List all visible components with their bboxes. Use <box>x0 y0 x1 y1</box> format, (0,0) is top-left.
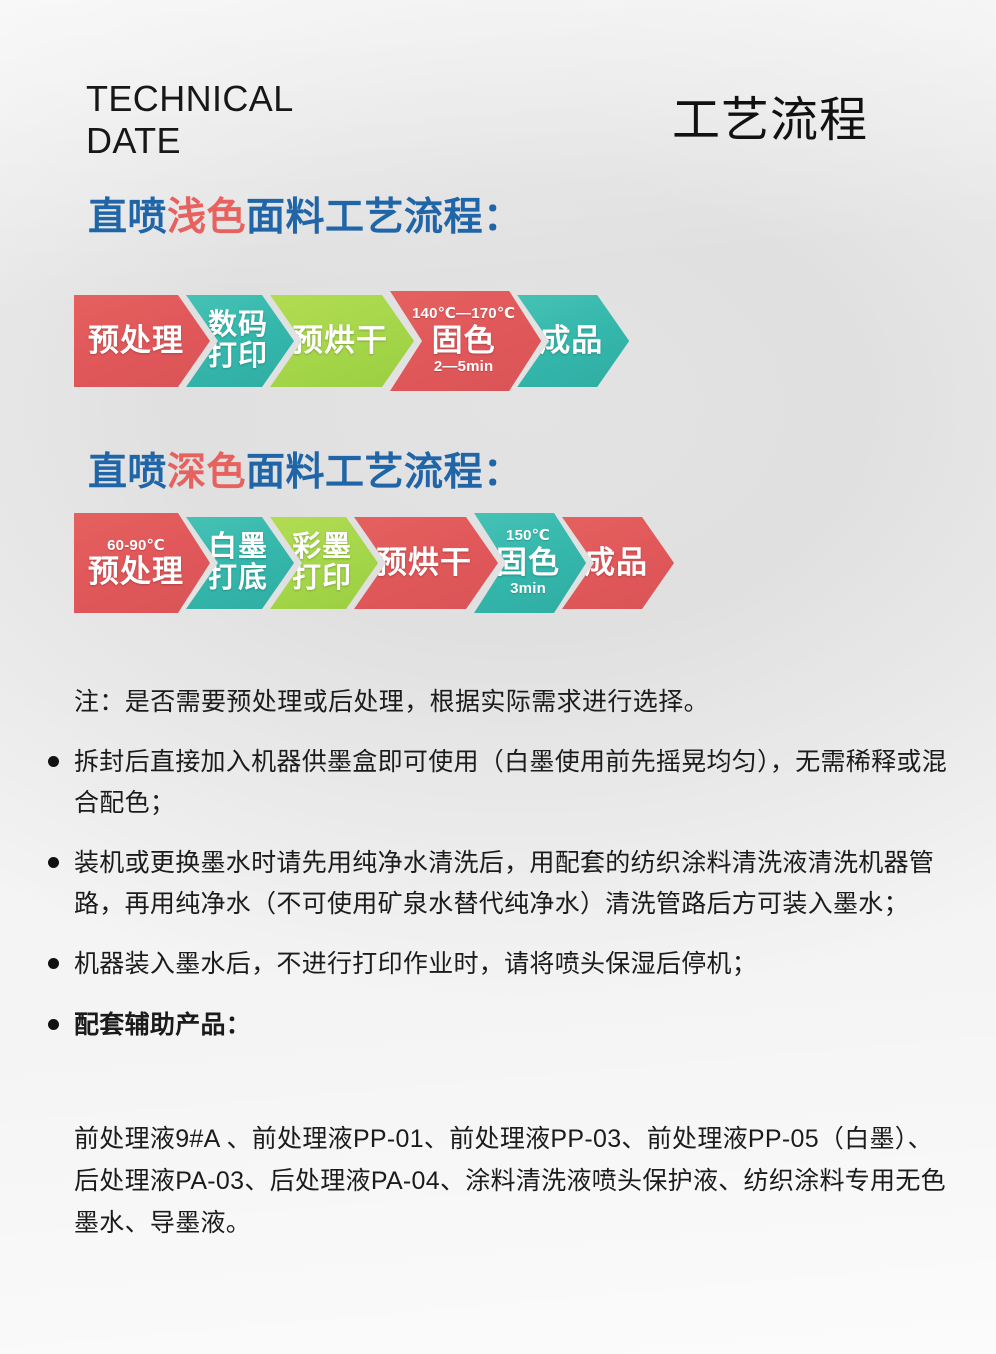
bullet-item: 配套辅助产品： <box>44 1005 954 1046</box>
step-label: 成品 <box>539 325 603 357</box>
bullet-dot-icon <box>48 756 59 767</box>
step-note-top: 60-90℃ <box>107 538 165 555</box>
bullet-dot-icon <box>48 857 59 868</box>
bullet-item: 拆封后直接加入机器供墨盒即可使用（白墨使用前先摇晃均匀），无需稀释或混合配色； <box>44 742 954 823</box>
step-note-top: 140℃—170℃ <box>412 306 515 323</box>
bullet-list: 拆封后直接加入机器供墨盒即可使用（白墨使用前先摇晃均匀），无需稀释或混合配色；装… <box>44 742 954 1059</box>
step-note-top: 150℃ <box>506 528 550 545</box>
bullet-item: 装机或更换墨水时请先用纯净水清洗后，用配套的纺织涂料清洗液清洗机器管路，再用纯净… <box>44 843 954 924</box>
step-label: 预烘干 <box>376 547 472 579</box>
bullet-text: 拆封后直接加入机器供墨盒即可使用（白墨使用前先摇晃均匀），无需稀释或混合配色； <box>74 748 947 817</box>
step-note-bottom: 2—5min <box>434 359 494 376</box>
step-label: 预处理 <box>88 325 184 357</box>
bullet-text: 配套辅助产品： <box>74 1011 251 1039</box>
process-step-arrow: 预处理 <box>74 295 210 387</box>
product-list: 前处理液9#A 、前处理液PP-01、前处理液PP-03、前处理液PP-05（白… <box>74 1118 954 1244</box>
heading-prefix: 直喷 <box>88 196 167 239</box>
step-label: 预处理 <box>88 556 184 588</box>
step-label: 数码 打印 <box>208 310 268 371</box>
page-title-english: TECHNICAL DATE <box>86 78 416 163</box>
heading-prefix: 直喷 <box>88 451 167 494</box>
heading-highlight: 浅色 <box>167 196 246 239</box>
process-step-arrow: 60-90℃预处理 <box>74 513 210 613</box>
heading-highlight: 深色 <box>167 451 246 494</box>
section-heading-light-fabric: 直喷浅色面料工艺流程： <box>88 198 523 237</box>
step-label: 固色 <box>496 547 560 579</box>
bullet-dot-icon <box>48 958 59 969</box>
page-title-chinese: 工艺流程 <box>672 96 868 146</box>
step-label: 白墨 打底 <box>208 532 268 593</box>
bullet-dot-icon <box>48 1019 59 1030</box>
section-heading-dark-fabric: 直喷深色面料工艺流程： <box>88 453 523 492</box>
step-label: 固色 <box>432 325 496 357</box>
bullet-text: 机器装入墨水后，不进行打印作业时，请将喷头保湿后停机； <box>74 950 757 978</box>
step-label: 成品 <box>584 547 648 579</box>
poster-page: TECHNICAL DATE 工艺流程 直喷浅色面料工艺流程： 预处理数码 打印… <box>0 0 996 1354</box>
process-flow-dark-fabric: 60-90℃预处理白墨 打底彩墨 打印预烘干150℃固色3min成品 <box>74 513 650 613</box>
heading-suffix: 面料工艺流程： <box>246 451 523 494</box>
step-label: 预烘干 <box>292 325 388 357</box>
step-label: 彩墨 打印 <box>292 532 352 593</box>
heading-suffix: 面料工艺流程： <box>246 196 523 239</box>
note-line: 注：是否需要预处理或后处理，根据实际需求进行选择。 <box>74 684 709 722</box>
bullet-text: 装机或更换墨水时请先用纯净水清洗后，用配套的纺织涂料清洗液清洗机器管路，再用纯净… <box>74 849 934 918</box>
step-note-bottom: 3min <box>510 581 546 598</box>
bullet-item: 机器装入墨水后，不进行打印作业时，请将喷头保湿后停机； <box>44 944 954 985</box>
process-flow-light-fabric: 预处理数码 打印预烘干140℃—170℃固色2—5min成品 <box>74 291 605 391</box>
